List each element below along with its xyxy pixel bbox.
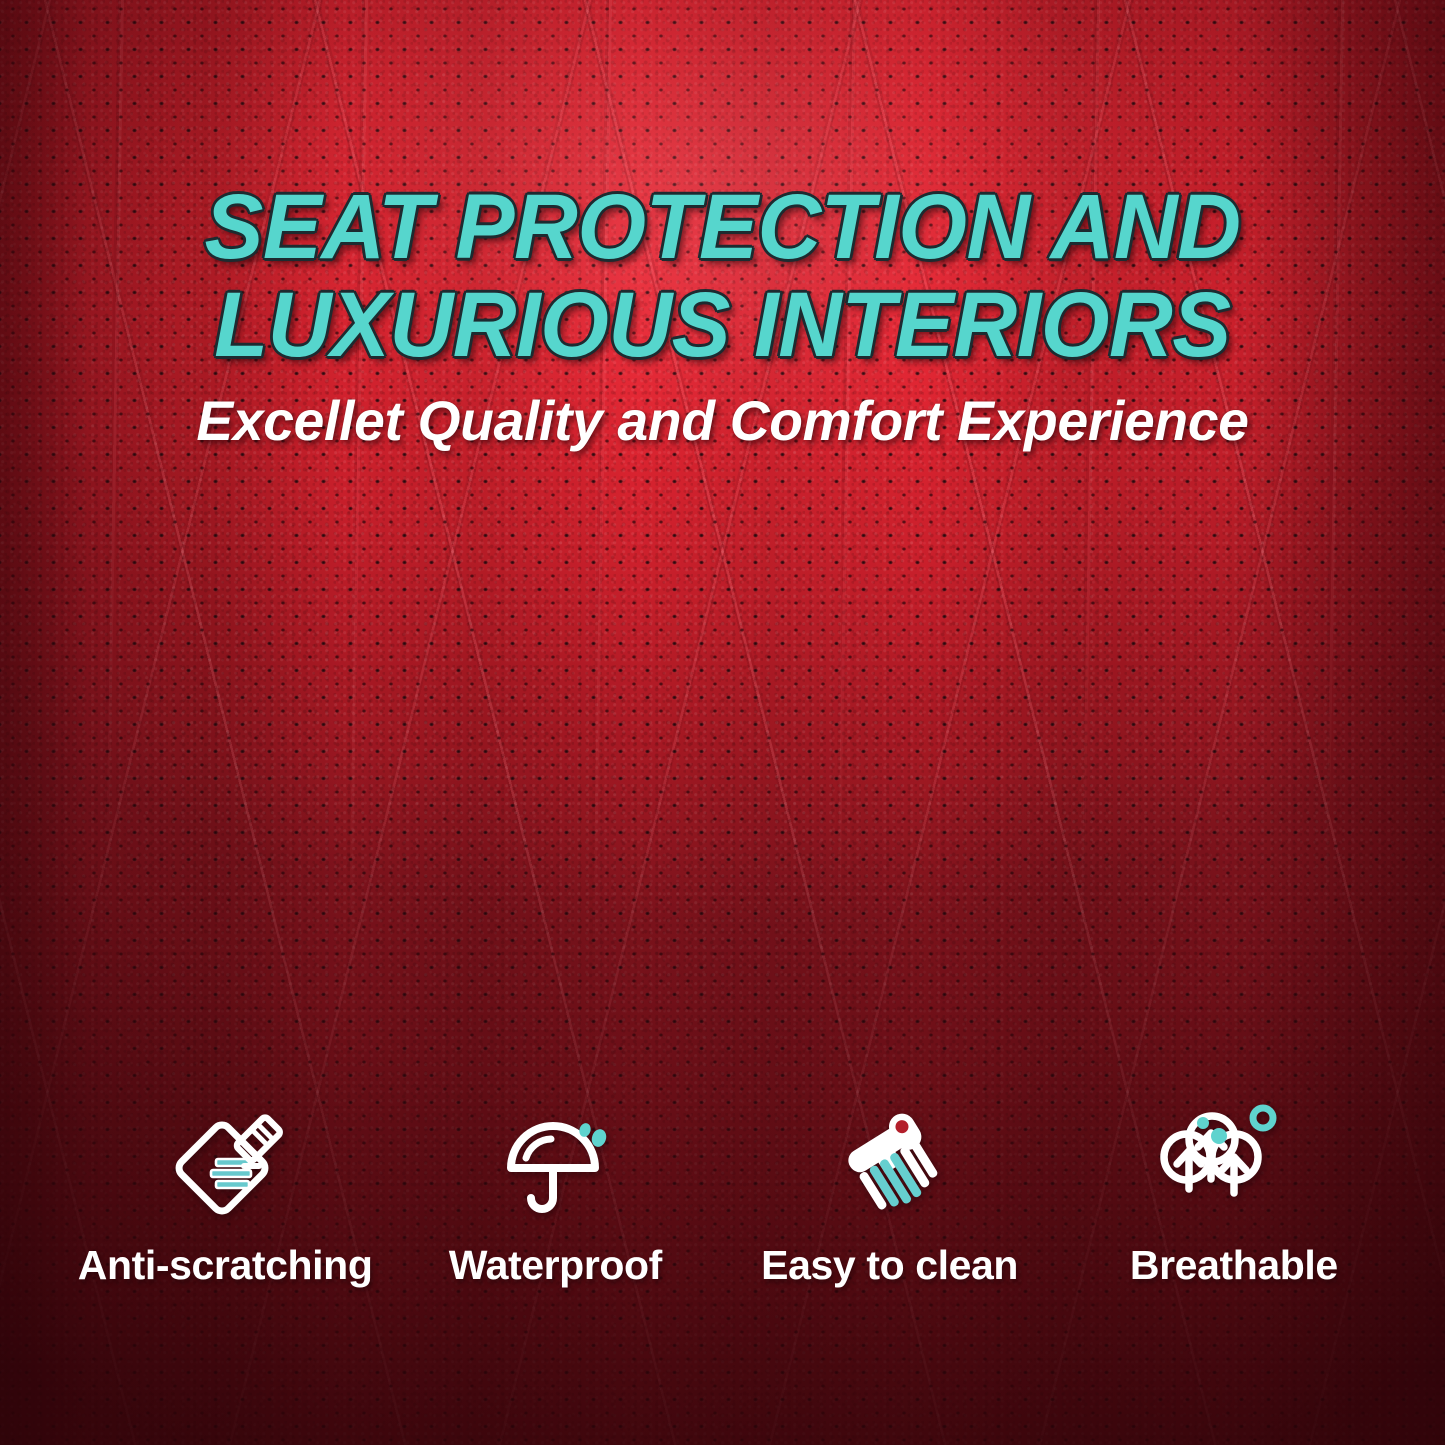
umbrella-icon [497, 1112, 613, 1222]
feature-label: Breathable [1130, 1242, 1338, 1288]
scratch-resistant-icon [173, 1112, 289, 1222]
headline-line-2: LUXURIOUS INTERIORS [29, 276, 1416, 374]
feature-label: Anti-scratching [78, 1242, 373, 1288]
headline-line-1: SEAT PROTECTION AND [29, 178, 1416, 276]
feature-label: Easy to clean [761, 1242, 1018, 1288]
headline: SEAT PROTECTION AND LUXURIOUS INTERIORS [0, 178, 1445, 374]
breathable-cloud-icon [1160, 1102, 1276, 1212]
subtitle: Excellet Quality and Comfort Experience [11, 390, 1434, 452]
feature-item-breathable: Breathable [1071, 1112, 1397, 1288]
feature-list: Anti-scratching Waterproof [70, 1112, 1375, 1288]
feature-item-anti-scratching: Anti-scratching [62, 1112, 388, 1288]
feature-label: Waterproof [449, 1242, 662, 1288]
feature-item-waterproof: Waterproof [392, 1112, 718, 1288]
brush-icon [832, 1112, 948, 1222]
product-banner: SEAT PROTECTION AND LUXURIOUS INTERIORS … [0, 0, 1445, 1445]
feature-item-easy-to-clean: Easy to clean [727, 1112, 1053, 1288]
